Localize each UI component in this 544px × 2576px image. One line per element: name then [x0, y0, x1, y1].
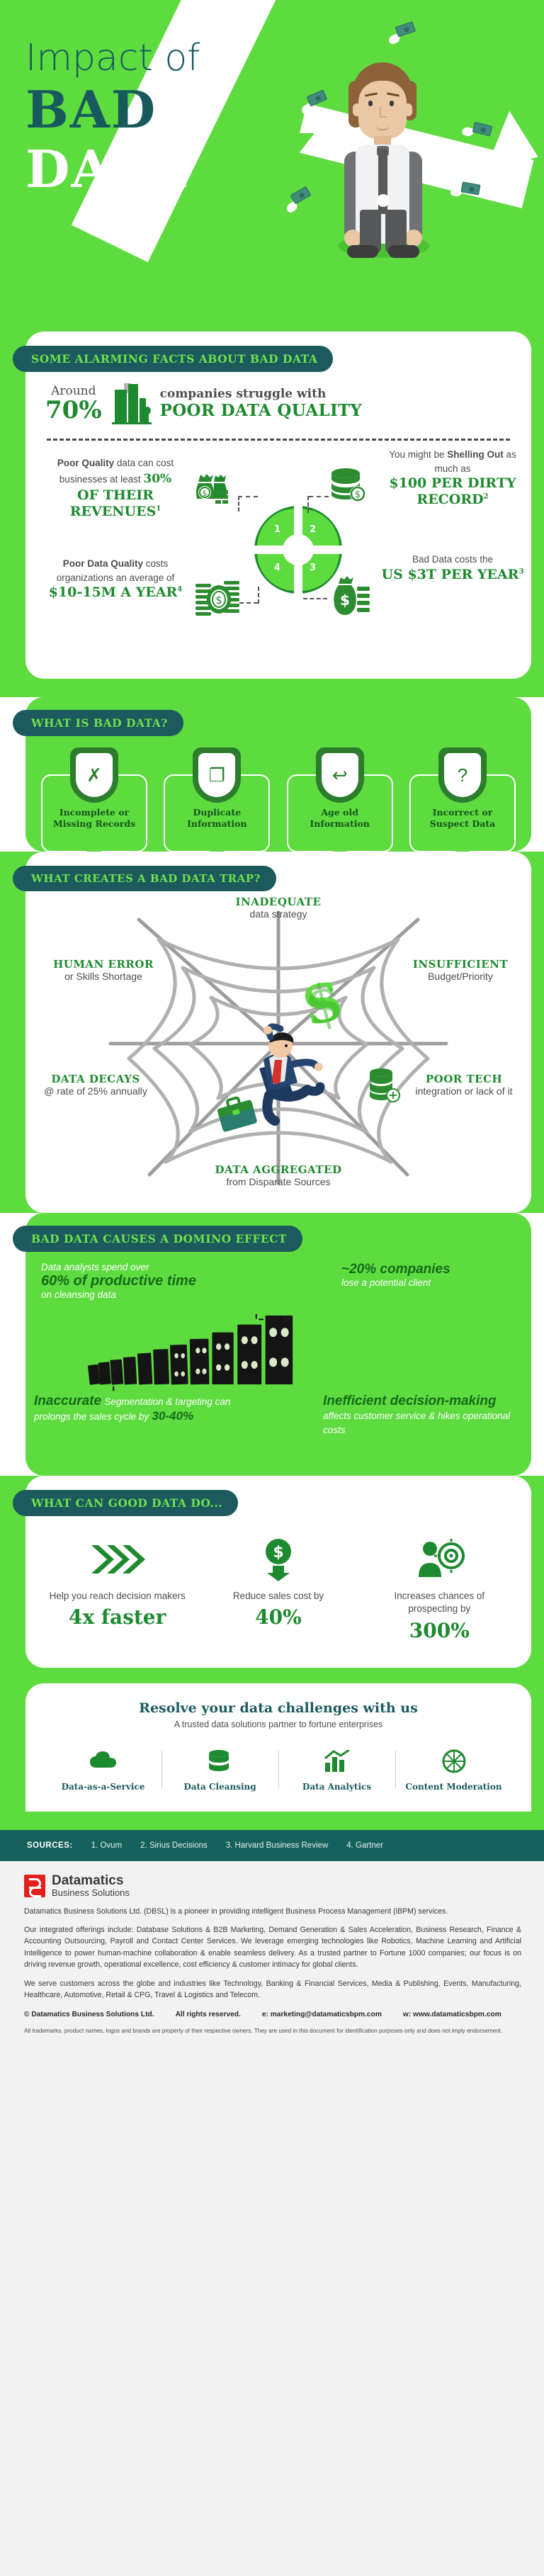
trap-card: WHAT CREATES A BAD DATA TRAP?	[25, 852, 531, 1213]
datamatics-logo-icon	[24, 1875, 45, 1897]
badge-glyph: ↩	[332, 766, 348, 784]
alarming-headline-row: Around 70% companies struggle with POOR …	[25, 372, 531, 427]
good-item-value: 4x faster	[47, 1605, 188, 1629]
content-moderation-icon	[395, 1745, 512, 1778]
connector	[258, 587, 259, 604]
fact-us-cost: Bad Data costs the US $3T PER YEAR3	[378, 553, 527, 582]
good-item-desc: Increases chances of prospecting by	[368, 1590, 510, 1617]
badge-incomplete[interactable]: ✗ Incomplete or Missing Records	[41, 747, 147, 830]
section-heading-alarming: SOME ALARMING FACTS ABOUT BAD DATA	[13, 346, 333, 372]
fact-lead-strong: Poor Quality	[57, 458, 114, 468]
fact-big-value: $10-15M A YEAR	[49, 584, 178, 600]
whatis-card: WHAT IS BAD DATA? ✗ Incomplete or Missin…	[25, 697, 531, 852]
callout-inaccurate: Inaccurate Segmentation & targeting can …	[34, 1394, 239, 1425]
footnote-ref: 4	[177, 586, 182, 594]
good-item-faster: Help you reach decision makers 4x faster	[47, 1535, 188, 1643]
section-heading-good: WHAT CAN GOOD DATA DO...	[13, 1490, 238, 1516]
trap-label-data-aggregated: DATA AGGREGATED from Disparate Sources	[200, 1163, 356, 1187]
green-spacer	[0, 1812, 544, 1830]
document-x-icon: ✗	[70, 747, 118, 803]
prospect-target-icon	[368, 1535, 510, 1584]
svg-text:$: $	[215, 594, 222, 606]
source-item: 4. Gartner	[346, 1841, 383, 1850]
footnote-ref: 3	[518, 567, 523, 575]
trap-label-title: DATA DECAYS	[35, 1073, 156, 1085]
fact-lead-strong: Poor Data Quality	[63, 558, 143, 569]
callout-line-b: lose a potential client	[341, 1277, 518, 1288]
badge-label-line1: Age old	[287, 807, 393, 818]
quadrant-number: 2	[310, 524, 316, 535]
fact-lead-text: You might be	[389, 449, 447, 460]
connector	[303, 598, 327, 599]
badge-label-line1: Incorrect or	[409, 807, 516, 818]
four-quadrant-diagram: 1 2 3 4	[254, 506, 342, 594]
email-link[interactable]: e: marketing@datamaticsbpm.com	[262, 2011, 382, 2018]
fact-revenues: Poor Quality data can cost businesses at…	[41, 456, 190, 520]
badge-glyph: ✗	[86, 766, 102, 784]
trap-label-sub: data strategy	[215, 908, 342, 920]
callout-line-a: Inaccurate	[34, 1394, 101, 1408]
coin-stack-icon: $	[194, 580, 244, 623]
fact-lead-pct: 30%	[143, 472, 171, 486]
alarming-facts-card: SOME ALARMING FACTS ABOUT BAD DATA Aroun…	[25, 332, 531, 679]
good-item-cost: $ Reduce sales cost by 40%	[208, 1535, 349, 1643]
badge-glyph: ?	[458, 766, 467, 784]
money-bags-icon: $	[193, 469, 237, 514]
brand-name: Datamatics	[52, 1874, 130, 1888]
resolve-heading: Resolve your data challenges with us	[25, 1700, 531, 1716]
domino-card: BAD DATA CAUSES A DOMINO EFFECT Data ana…	[25, 1213, 531, 1476]
rights-text: All rights reserved.	[176, 2011, 241, 2018]
resolve-subheading: A trusted data solutions partner to fort…	[25, 1719, 531, 1729]
services-row: Data-as-a-Service Data Cleansing	[25, 1745, 531, 1792]
trap-label-sub: from Disparate Sources	[200, 1176, 356, 1187]
callout-line-a: Inefficient decision-making	[323, 1394, 521, 1409]
domino-band: BAD DATA CAUSES A DOMINO EFFECT Data ana…	[0, 1213, 544, 1476]
callout-line-b: affects customer service & hikes operati…	[323, 1409, 521, 1438]
facts-grid: Poor Quality data can cost businesses at…	[25, 441, 531, 660]
trap-label-title: HUMAN ERROR	[40, 958, 167, 971]
badge-ageold[interactable]: ↩ Age old Information	[287, 747, 393, 830]
connector	[238, 496, 258, 497]
copyright-text: © Datamatics Business Solutions Ltd.	[24, 2011, 154, 2018]
good-item-value: 40%	[208, 1605, 349, 1629]
fact-dirty-record: You might be Shelling Out as much as $10…	[378, 448, 527, 508]
badge-label-line2: Information	[287, 818, 393, 830]
trap-label-poor-tech: POOR TECH integration or lack of it	[404, 1073, 524, 1097]
trap-label-sub: @ rate of 25% annually	[35, 1085, 156, 1097]
fast-forward-icon	[47, 1535, 188, 1584]
cost-down-icon: $	[208, 1535, 349, 1584]
fact-lead-strong: Shelling Out	[447, 449, 504, 460]
trap-label-title: INSUFFICIENT	[397, 958, 524, 971]
quadrant-number: 3	[310, 563, 316, 573]
decorative-arrow-notch	[263, 133, 314, 166]
struggle-label: companies struggle with	[160, 387, 363, 401]
good-data-card: WHAT CAN GOOD DATA DO... Help you reach …	[25, 1476, 531, 1668]
domino-row	[72, 1314, 469, 1392]
alarming-facts-band: SOME ALARMING FACTS ABOUT BAD DATA Aroun…	[0, 332, 544, 697]
badge-label-line1: Duplicate	[164, 807, 270, 818]
fact-big-value: $100 PER DIRTY RECORD	[389, 475, 516, 507]
callout-line-c: 30-40%	[152, 1409, 194, 1423]
trap-label-sub: Budget/Priority	[397, 971, 524, 982]
businessman-illustration	[333, 62, 432, 275]
callout-line-c: on cleansing data	[41, 1289, 239, 1300]
buildings-icon	[109, 382, 153, 424]
data-analytics-icon	[278, 1745, 395, 1778]
domino-illustration: Data analysts spend over 60% of producti…	[25, 1252, 531, 1457]
footer-paragraph-3: We serve customers across the globe and …	[24, 1978, 521, 2001]
fact-big-value: OF THEIR REVENUES	[70, 487, 157, 519]
poor-data-quality-label: POOR DATA QUALITY	[160, 401, 363, 420]
badge-label-line2: Missing Records	[41, 818, 147, 830]
briefcase-question-icon: ?	[438, 747, 487, 803]
whatis-badges: ✗ Incomplete or Missing Records ❐ Duplic…	[25, 736, 531, 830]
source-item: 3. Harvard Business Review	[226, 1841, 328, 1850]
good-data-band: WHAT CAN GOOD DATA DO... Help you reach …	[0, 1476, 544, 1831]
service-label: Content Moderation	[395, 1782, 512, 1792]
trap-label-inadequate: INADEQUATE data strategy	[215, 896, 342, 920]
source-item: 2. Sirius Decisions	[140, 1841, 208, 1850]
connector	[309, 496, 329, 497]
brand-tagline: Business Solutions	[52, 1888, 130, 1898]
infographic-page: Impact of BAD DATA	[0, 0, 544, 2054]
quadrant-number: 4	[274, 563, 280, 573]
hero-banner: Impact of BAD DATA	[0, 0, 544, 332]
callout-productive-time: Data analysts spend over 60% of producti…	[41, 1262, 239, 1300]
trap-band: WHAT CREATES A BAD DATA TRAP?	[0, 852, 544, 1213]
connector	[239, 602, 258, 604]
footer: Datamatics Business Solutions Datamatics…	[0, 1861, 544, 2054]
section-heading-whatis: WHAT IS BAD DATA?	[13, 710, 183, 736]
trap-label-sub: or Skills Shortage	[40, 971, 167, 982]
badge-glyph: ❐	[209, 766, 225, 784]
calendar-back-icon: ↩	[316, 747, 364, 803]
trap-label-title: POOR TECH	[404, 1073, 524, 1085]
badge-incorrect[interactable]: ? Incorrect or Suspect Data	[409, 747, 516, 830]
company-logo: Datamatics Business Solutions	[24, 1874, 521, 1898]
good-data-grid: Help you reach decision makers 4x faster…	[25, 1516, 531, 1647]
callout-line-b: 60% of productive time	[41, 1272, 239, 1289]
service-label: Data-as-a-Service	[45, 1782, 161, 1792]
connector	[307, 496, 309, 513]
hero-word-bad: BAD	[25, 79, 157, 140]
callout-inefficient: Inefficient decision-making affects cust…	[323, 1394, 521, 1438]
service-moderation[interactable]: Content Moderation	[395, 1745, 512, 1792]
trap-label-sub: integration or lack of it	[404, 1085, 524, 1097]
trap-label-insufficient: INSUFFICIENT Budget/Priority	[397, 958, 524, 982]
trap-label-title: INADEQUATE	[215, 896, 342, 908]
trap-label-title: DATA AGGREGATED	[200, 1163, 356, 1176]
database-dollar-icon: $	[329, 466, 368, 507]
section-heading-domino: BAD DATA CAUSES A DOMINO EFFECT	[13, 1226, 302, 1252]
section-heading-trap: WHAT CREATES A BAD DATA TRAP?	[13, 866, 276, 891]
service-label: Data Analytics	[278, 1782, 395, 1792]
duplicate-docs-icon: ❐	[193, 747, 241, 803]
trap-label-data-decays: DATA DECAYS @ rate of 25% annually	[35, 1073, 156, 1097]
svg-text:$: $	[203, 489, 208, 498]
footer-paragraph-2: Our integrated offerings include: Databa…	[24, 1924, 521, 1971]
footer-paragraph-1: Datamatics Business Solutions Ltd. (DBSL…	[24, 1906, 521, 1917]
service-daas[interactable]: Data-as-a-Service	[45, 1745, 161, 1792]
svg-text:$: $	[340, 592, 350, 609]
footnote-ref: 2	[484, 493, 489, 501]
footer-legal-row: © Datamatics Business Solutions Ltd. All…	[24, 2011, 521, 2018]
disclaimer-text: All trademarks, product names, logos and…	[24, 2027, 521, 2035]
data-cleansing-icon	[161, 1745, 278, 1778]
resolve-card: Resolve your data challenges with us A t…	[25, 1683, 531, 1812]
page-title: Impact of	[25, 37, 200, 79]
svg-text:$: $	[355, 490, 361, 500]
callout-line-a: Data analysts spend over	[41, 1262, 239, 1272]
service-label: Data Cleansing	[161, 1782, 278, 1792]
service-analytics[interactable]: Data Analytics	[278, 1745, 395, 1792]
flying-money-icon	[464, 117, 495, 153]
cloud-service-icon	[45, 1745, 161, 1778]
fact-big-value: US $3T PER YEAR	[382, 567, 519, 582]
quadrant-number: 1	[274, 524, 280, 535]
source-item: 1. Ovum	[91, 1841, 122, 1850]
flying-money-icon	[390, 17, 422, 54]
badge-label-line2: Information	[164, 818, 270, 830]
callout-line-a: ~20% companies	[341, 1262, 518, 1277]
fact-lead-text: Bad Data costs the	[412, 554, 493, 565]
hero-word-data: DATA	[25, 139, 187, 199]
good-item-desc: Reduce sales cost by	[208, 1590, 349, 1603]
good-item-desc: Help you reach decision makers	[47, 1590, 188, 1603]
service-cleansing[interactable]: Data Cleansing	[161, 1745, 278, 1792]
trap-label-human-error: HUMAN ERROR or Skills Shortage	[40, 958, 167, 982]
badge-label-line1: Incomplete or	[41, 807, 147, 818]
svg-text:$: $	[273, 1544, 283, 1561]
footnote-ref: 1	[156, 505, 161, 513]
website-link[interactable]: w: www.datamaticsbpm.com	[403, 2011, 501, 2018]
fact-annual-cost: Poor Data Quality costs organizations an…	[41, 557, 190, 601]
sources-bar: SOURCES: 1. Ovum 2. Sirius Decisions 3. …	[0, 1830, 544, 1861]
badge-label-line2: Suspect Data	[409, 818, 516, 830]
connector	[238, 496, 239, 512]
whatis-band: WHAT IS BAD DATA? ✗ Incomplete or Missin…	[0, 697, 544, 852]
flying-money-icon	[453, 176, 482, 211]
percent-value: 70%	[45, 398, 102, 422]
callout-lost-clients: ~20% companies lose a potential client	[341, 1262, 518, 1288]
good-item-prospecting: Increases chances of prospecting by 300%	[368, 1535, 510, 1643]
sources-label: SOURCES:	[27, 1841, 73, 1850]
spider-web-illustration: S $	[25, 891, 531, 1196]
badge-duplicate[interactable]: ❐ Duplicate Information	[164, 747, 270, 830]
good-item-value: 300%	[368, 1619, 510, 1642]
flying-money-icon	[284, 181, 320, 220]
